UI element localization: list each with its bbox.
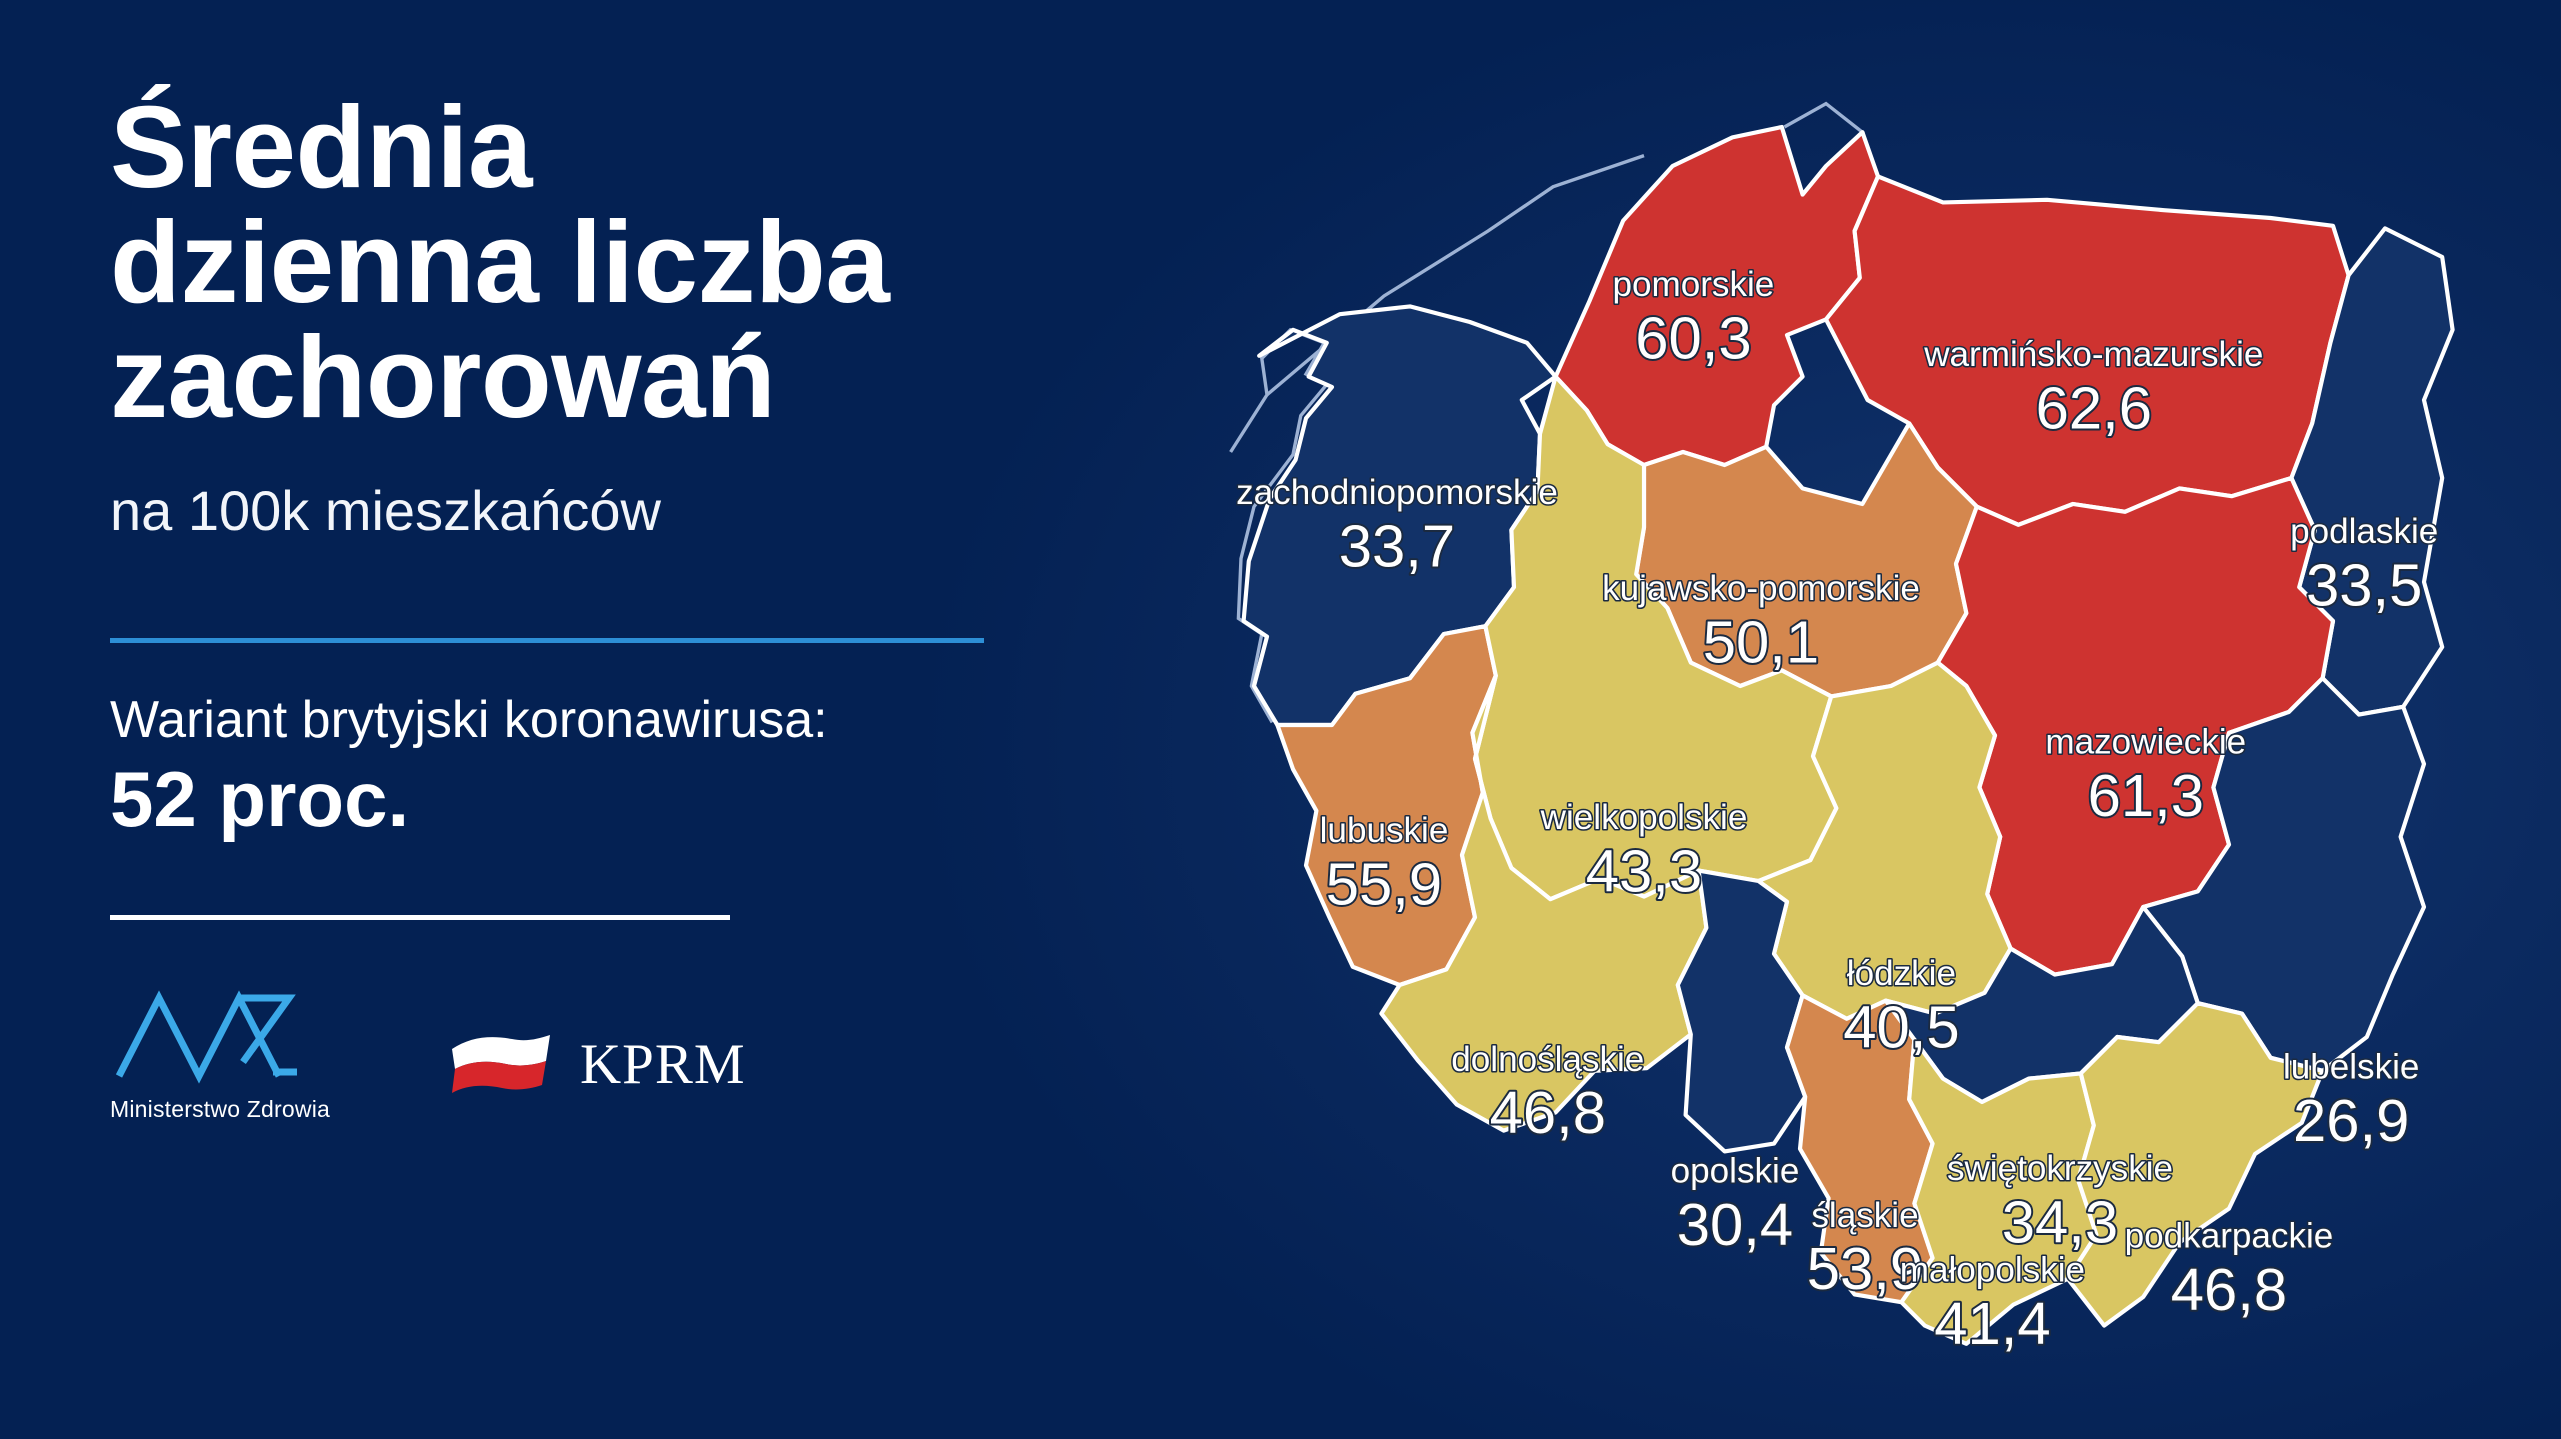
label-dolnoslaskie: dolnośląskie [1451, 1040, 1644, 1079]
polish-flag-icon [450, 1033, 554, 1095]
value-lubelskie: 26,9 [2293, 1087, 2409, 1154]
logo-row: Ministerstwo Zdrowia KPRM [110, 988, 1130, 1123]
divider-white [110, 915, 730, 920]
variant-label: Wariant brytyjski koronawirusa: [110, 691, 1130, 751]
label-podlaskie: podlaskie [2290, 512, 2438, 551]
divider-blue [110, 638, 984, 643]
label-lubuskie: lubuskie [1320, 811, 1449, 850]
label-warminsko-mazurskie: warmińsko-mazurskie [1923, 335, 2263, 374]
ministry-of-health-logo: Ministerstwo Zdrowia [110, 988, 330, 1123]
value-zachodniopomorskie: 33,7 [1339, 512, 1455, 579]
value-pomorskie: 60,3 [1635, 304, 1751, 371]
mz-zigzag-icon [115, 988, 325, 1084]
value-podkarpackie: 46,8 [2171, 1256, 2287, 1323]
label-pomorskie: pomorskie [1612, 265, 1774, 304]
ministry-logo-label: Ministerstwo Zdrowia [110, 1096, 330, 1123]
info-panel: Średnia dzienna liczba zachorowań na 100… [110, 90, 1130, 1370]
label-swietokrzyskie: świętokrzyskie [1947, 1149, 2173, 1188]
label-podkarpackie: podkarpackie [2125, 1217, 2334, 1256]
poland-choropleth-map: pomorskie 60,3 warmińsko-mazurskie 62,6 … [1215, 60, 2515, 1390]
kprm-logo-label: KPRM [580, 1032, 746, 1097]
label-wielkopolskie: wielkopolskie [1540, 798, 1748, 837]
page-subtitle: na 100k mieszkańców [110, 480, 1130, 542]
value-opolskie: 30,4 [1677, 1191, 1793, 1258]
value-malopolskie: 41,4 [1934, 1290, 2050, 1357]
value-wielkopolskie: 43,3 [1586, 837, 1702, 904]
label-lubelskie: lubelskie [2283, 1048, 2420, 1087]
label-zachodniopomorskie: zachodniopomorskie [1236, 473, 1558, 512]
label-malopolskie: małopolskie [1900, 1250, 2085, 1289]
map-svg: pomorskie 60,3 warmińsko-mazurskie 62,6 … [1215, 60, 2515, 1390]
value-lodzkie: 40,5 [1843, 993, 1959, 1060]
kprm-logo: KPRM [450, 1032, 746, 1097]
label-opolskie: opolskie [1671, 1152, 1800, 1191]
value-mazowieckie: 61,3 [2088, 762, 2204, 829]
label-lodzkie: łódzkie [1847, 954, 1956, 993]
value-dolnoslaskie: 46,8 [1490, 1079, 1606, 1146]
variant-value: 52 proc. [110, 757, 1130, 843]
page-title: Średnia dzienna liczba zachorowań [110, 90, 1130, 434]
value-swietokrzyskie: 34,3 [2002, 1188, 2118, 1255]
label-mazowieckie: mazowieckie [2045, 723, 2246, 762]
value-lubuskie: 55,9 [1326, 850, 1442, 917]
value-kujawsko-pomorskie: 50,1 [1703, 609, 1819, 676]
value-podlaskie: 33,5 [2306, 551, 2422, 618]
value-warminsko-mazurskie: 62,6 [2036, 375, 2152, 442]
label-slaskie: śląskie [1811, 1196, 1918, 1235]
label-kujawsko-pomorskie: kujawsko-pomorskie [1602, 569, 1920, 608]
